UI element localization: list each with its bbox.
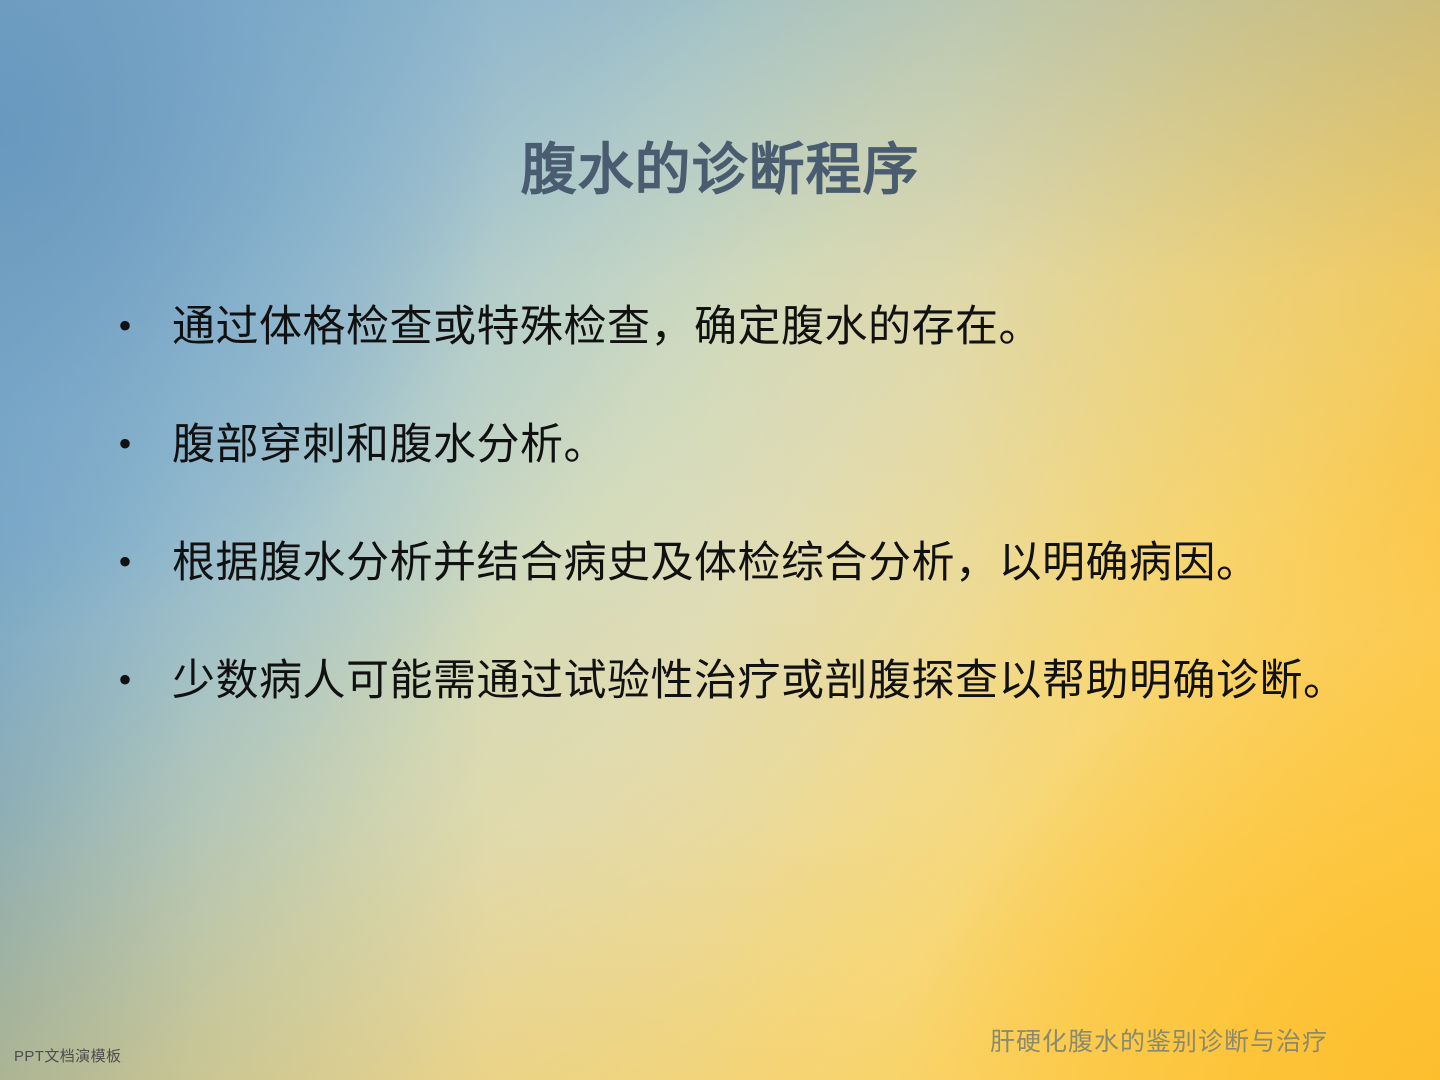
list-item-text: 腹部穿刺和腹水分析。	[172, 418, 1398, 474]
list-item-text: 通过体格检查或特殊检查，确定腹水的存在。	[172, 300, 1398, 356]
slide-title: 腹水的诊断程序	[0, 138, 1440, 204]
bullet-marker-icon: •	[108, 654, 172, 706]
list-item-text: 根据腹水分析并结合病史及体检综合分析，以明确病因。	[172, 536, 1398, 592]
footer-template-credit: PPT文档演模板	[14, 1045, 121, 1066]
footer-deck-title: 肝硬化腹水的鉴别诊断与治疗	[990, 1022, 1328, 1058]
list-item-text: 少数病人可能需通过试验性治疗或剖腹探查以帮助明确诊断。	[172, 654, 1398, 710]
bullet-list: • 通过体格检查或特殊检查，确定腹水的存在。 • 腹部穿刺和腹水分析。 • 根据…	[108, 300, 1398, 710]
bullet-marker-icon: •	[108, 536, 172, 588]
bullet-marker-icon: •	[108, 300, 172, 352]
list-item: • 少数病人可能需通过试验性治疗或剖腹探查以帮助明确诊断。	[108, 654, 1398, 710]
presentation-slide: 腹水的诊断程序 • 通过体格检查或特殊检查，确定腹水的存在。 • 腹部穿刺和腹水…	[0, 0, 1440, 1080]
list-item: • 腹部穿刺和腹水分析。	[108, 418, 1398, 474]
bullet-marker-icon: •	[108, 418, 172, 470]
list-item: • 通过体格检查或特殊检查，确定腹水的存在。	[108, 300, 1398, 356]
list-item: • 根据腹水分析并结合病史及体检综合分析，以明确病因。	[108, 536, 1398, 592]
